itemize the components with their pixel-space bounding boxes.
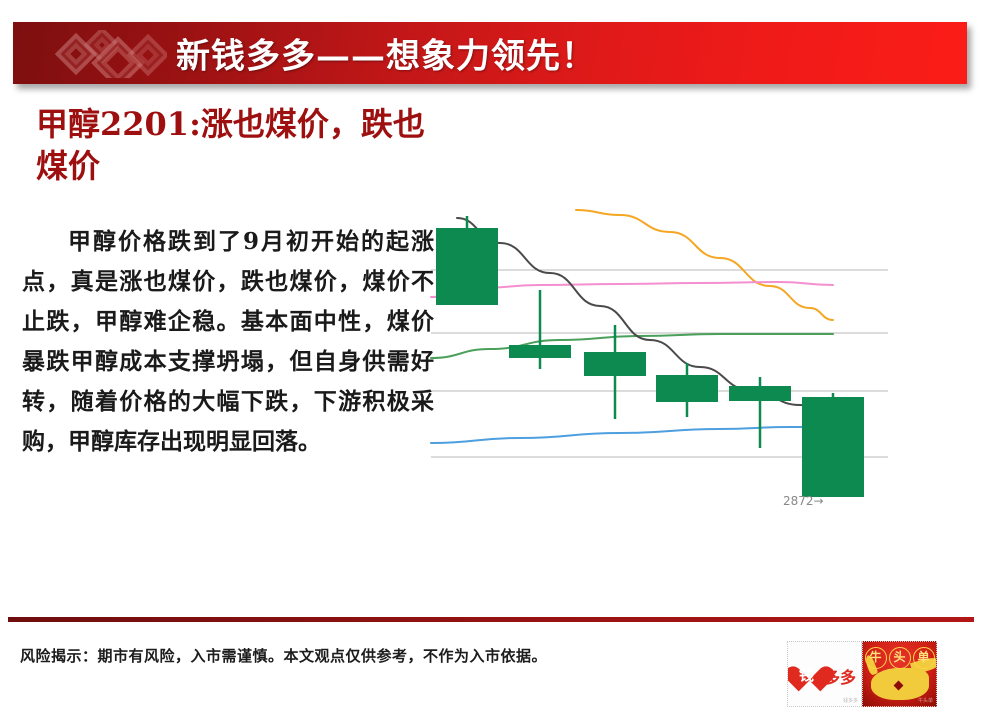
niutoudan-watermark: 牛头单 (918, 697, 933, 704)
ma-line-MA-dark (457, 218, 833, 412)
niutoudan-char-2: 头 (889, 647, 911, 669)
ma-line-MA-orange (576, 210, 833, 320)
niutoudan-logo: 牛 头 单 牛头单 (862, 641, 937, 707)
candle-2 (509, 290, 571, 369)
candle-body (436, 228, 498, 305)
body-paragraph: 甲醇价格跌到了9月初开始的起涨点，真是涨也煤价，跌也煤价，煤价不止跌，甲醇难企稳… (22, 222, 434, 462)
candlestick-chart: 2872→ (425, 198, 895, 518)
qiandinaduo-heart-char: 钱 (799, 664, 814, 685)
candle-body (584, 352, 646, 376)
niutoudan-char-3: 单 (913, 647, 935, 669)
candle-5 (729, 377, 791, 448)
header-title: 新钱多多——想象力领先！ (176, 29, 596, 78)
header-banner: 新钱多多——想象力领先！ (13, 22, 967, 84)
candle-series (436, 216, 864, 497)
ma-line-MA-blue (431, 427, 833, 443)
qiandinaduo-watermark: 钱多多 (843, 697, 858, 704)
candle-4 (656, 363, 718, 417)
page-title: 甲醇2201:涨也煤价，跌也煤价 (36, 103, 456, 187)
candle-body (729, 386, 791, 401)
price-annotation-label: 2872→ (783, 494, 824, 508)
candle-6 (802, 393, 864, 497)
footer-divider (8, 617, 974, 622)
candle-body (509, 345, 571, 358)
footer-disclaimer: 风险揭示：期市有风险，入市需谨慎。本文观点仅供参考，不作为入市依据。 (20, 645, 547, 666)
candle-body (802, 397, 864, 497)
candle-1 (436, 216, 498, 305)
niutoudan-char-row: 牛 头 单 (863, 647, 936, 669)
footer-logo-group: 钱 多多 钱多多 牛 头 单 牛头单 (787, 641, 937, 707)
qiandinaduo-text: 多多 (824, 664, 856, 688)
qiandinaduo-logo: 钱 多多 钱多多 (787, 641, 862, 707)
chart-svg (425, 198, 895, 518)
candle-body (656, 375, 718, 402)
niutoudan-char-1: 牛 (865, 647, 887, 669)
slide-canvas: 新钱多多——想象力领先！ 甲醇2201:涨也煤价，跌也煤价 甲醇价格跌到了9月初… (0, 0, 982, 720)
lattice-diamond-logo-icon (55, 30, 167, 78)
